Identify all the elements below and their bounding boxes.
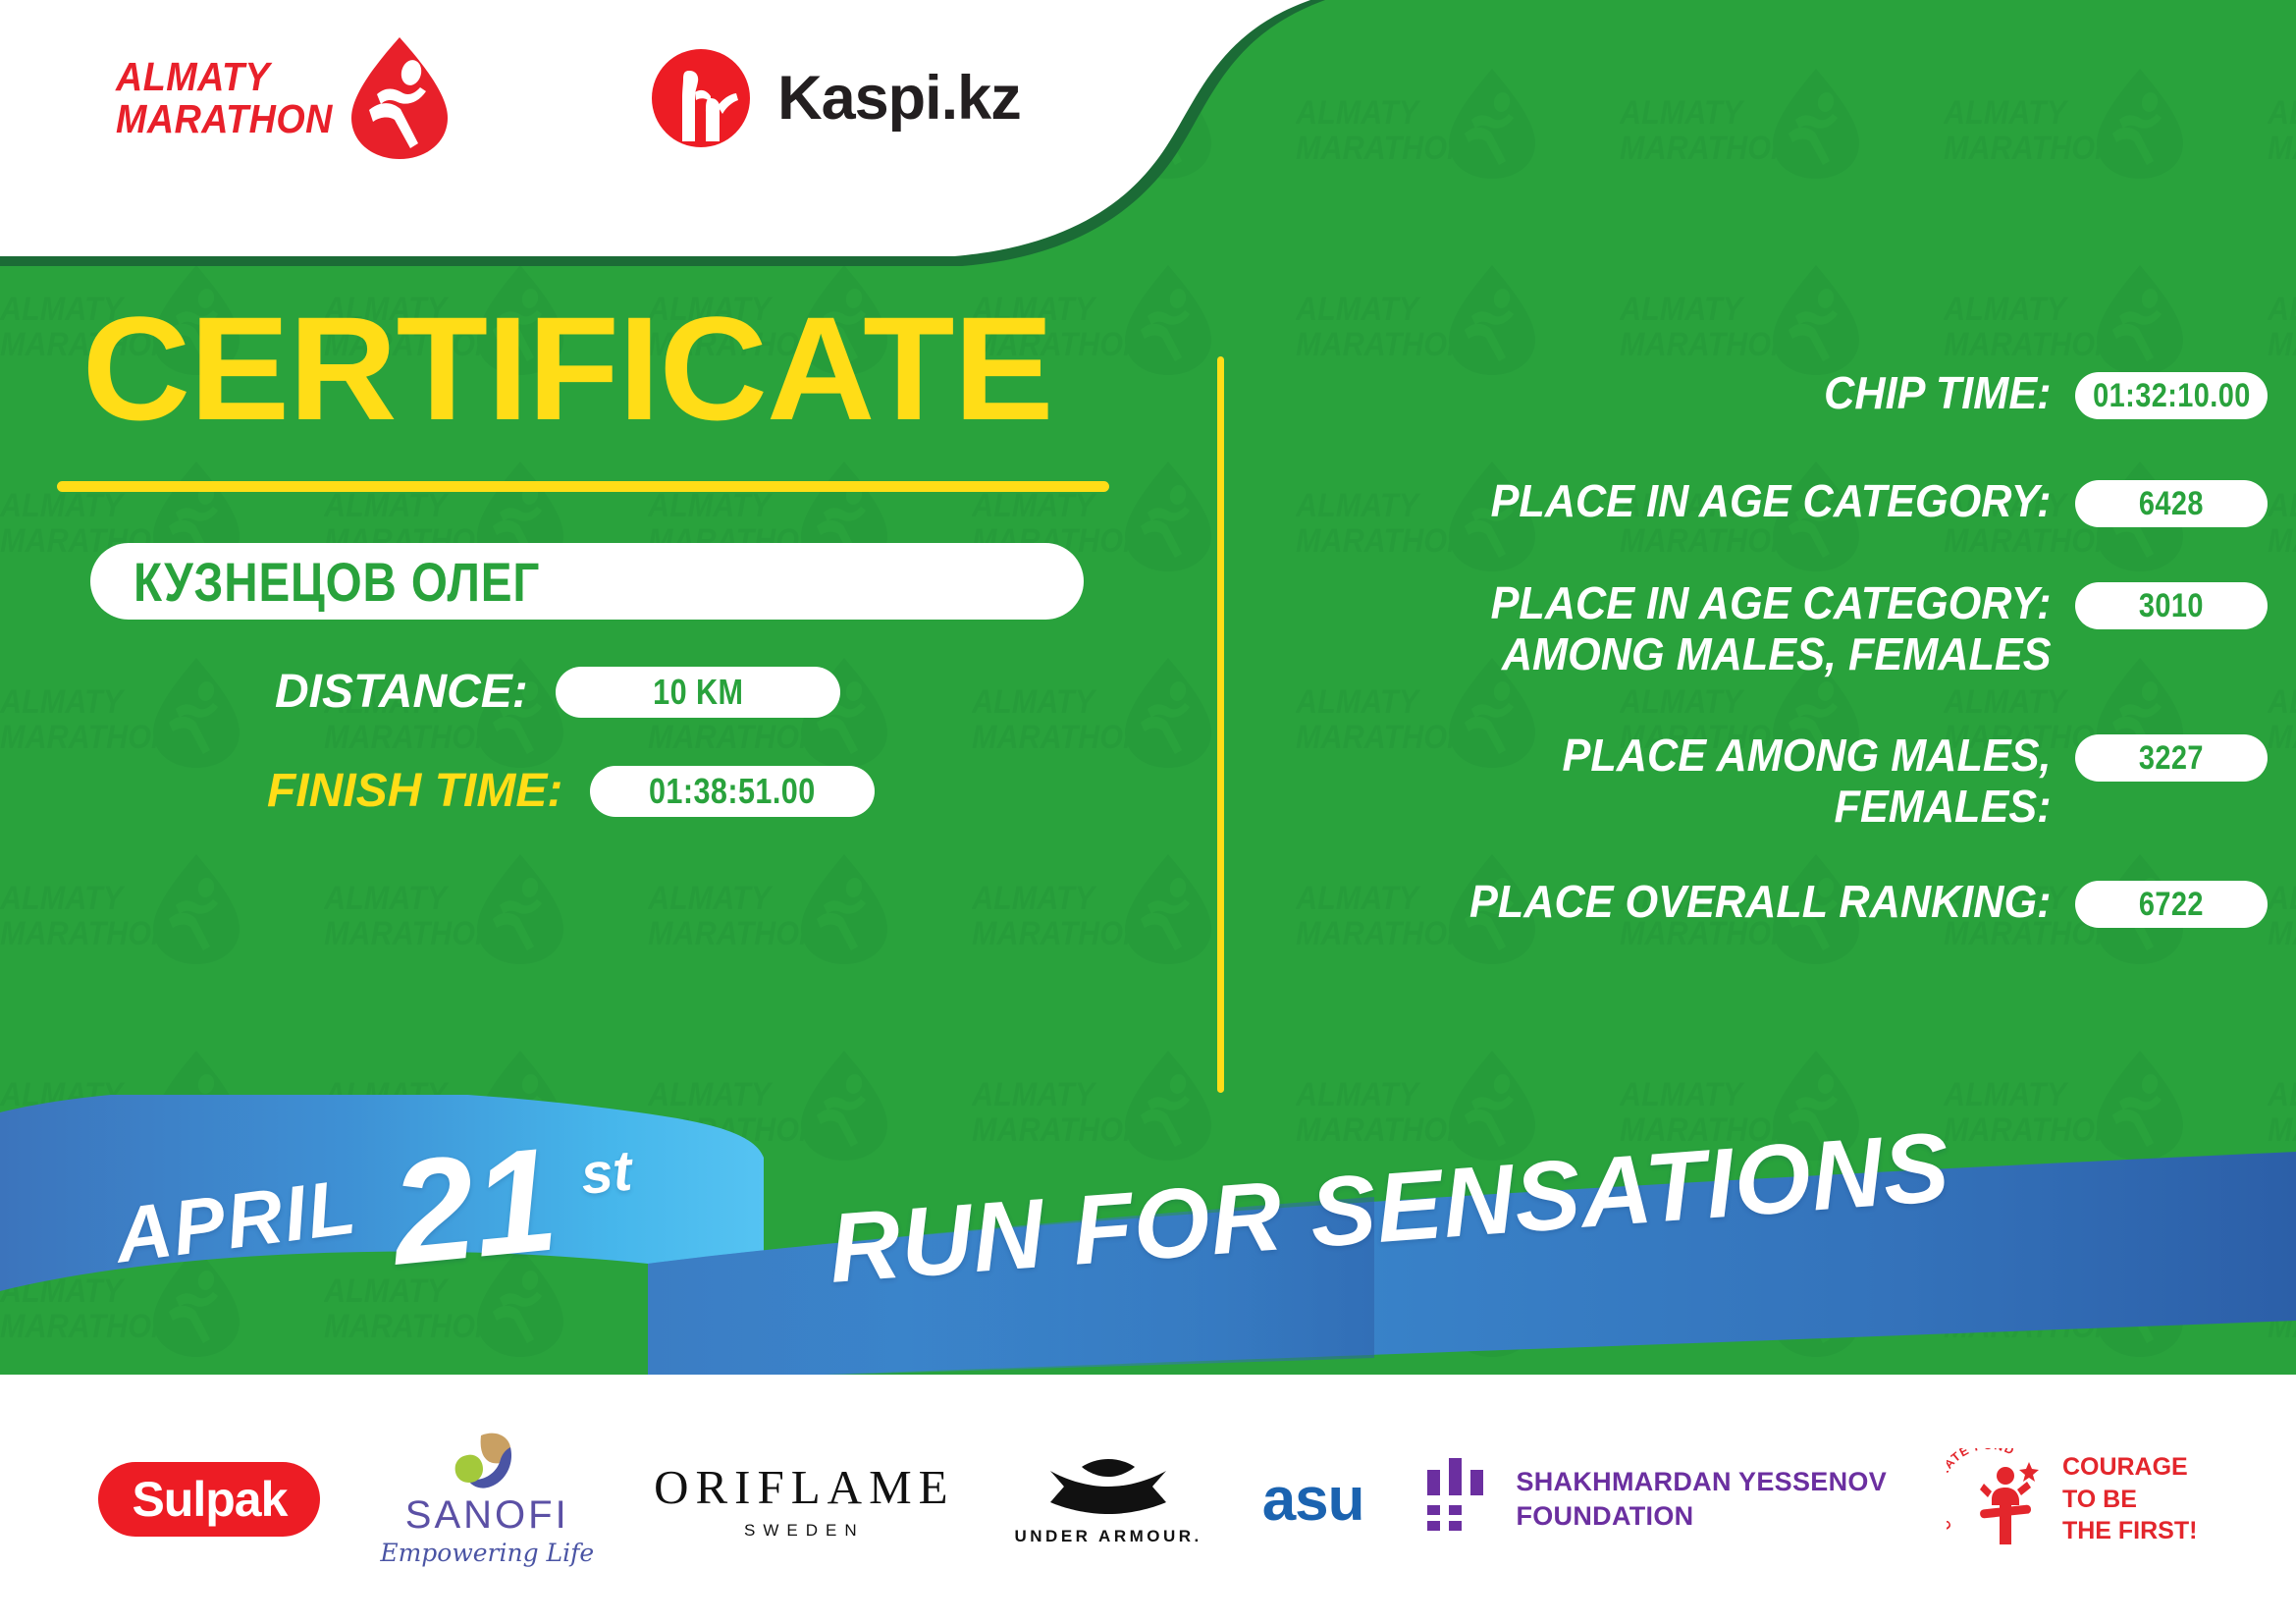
finish-time-value: 01:38:51.00 [649,771,816,812]
yessenov-wordmark: SHAKHMARDAN YESSENOV FOUNDATION [1516,1465,1887,1533]
kaspi-circle-people-icon [650,47,752,149]
sponsor-asu: asu [1262,1465,1364,1535]
result-row-place-among-gender: PLACE AMONG MALES,FEMALES: 3227 [1276,731,2268,832]
yessenov-line2: FOUNDATION [1516,1501,1693,1531]
result-label: CHIP TIME: [1324,368,2075,419]
result-value: 6428 [2139,485,2204,523]
left-column: CERTIFICATE КУЗНЕЦОВ ОЛЕГ DISTANCE: 10 K… [0,295,1207,818]
result-value-pill: 6722 [2075,881,2268,928]
sponsor-sanofi: SANOFI Empowering Life [380,1432,594,1567]
column-divider [1217,356,1224,1093]
asu-wordmark: asu [1262,1465,1364,1535]
result-row-place-age-category-gender: PLACE IN AGE CATEGORY:AMONG MALES, FEMAL… [1276,578,2268,679]
participant-name-field: КУЗНЕЦОВ ОЛЕГ [90,543,1084,620]
under-armour-logo-icon [1046,1453,1170,1520]
sanofi-mark-icon [452,1432,522,1492]
courage-line3: THE FIRST! [2062,1517,2198,1544]
title-underline-rule [57,481,1109,492]
sanofi-tagline: Empowering Life [380,1539,594,1567]
page-title: CERTIFICATE [0,295,1232,442]
result-value: 01:32:10.00 [2093,377,2251,415]
header-logos: ALMATY MARATHON Kaspi.kz [0,0,1276,196]
result-value-pill: 01:32:10.00 [2075,372,2268,419]
kaspi-logo: Kaspi.kz [650,47,1021,149]
result-value-pill: 3010 [2075,582,2268,629]
result-row-place-overall: PLACE OVERALL RANKING: 6722 [1276,877,2268,928]
participant-name-value: КУЗНЕЦОВ ОЛЕГ [133,550,540,614]
kaspi-wordmark: Kaspi.kz [777,63,1021,134]
result-value: 6722 [2139,886,2204,924]
oriflame-wordmark: ORIFLAME [654,1459,954,1515]
sponsor-oriflame: ORIFLAME SWEDEN [654,1459,954,1541]
results-column: CHIP TIME: 01:32:10.00 PLACE IN AGE CATE… [1276,368,2268,969]
distance-value: 10 KM [653,672,743,713]
result-row-chip-time: CHIP TIME: 01:32:10.00 [1276,368,2268,419]
sponsor-yessenov-foundation: SHAKHMARDAN YESSENOV FOUNDATION [1423,1456,1887,1543]
result-label: PLACE OVERALL RANKING: [1324,877,2075,928]
result-value: 3227 [2139,739,2204,778]
courage-wordmark: COURAGE TO BE THE FIRST! [2062,1451,2198,1547]
sponsor-sulpak: Sulpak [98,1462,320,1537]
finish-time-value-pill: 01:38:51.00 [590,766,875,817]
finish-time-label: FINISH TIME: [267,764,562,818]
almaty-marathon-logo: ALMATY MARATHON [116,33,454,163]
yessenov-bars-icon [1423,1456,1490,1543]
almaty-marathon-line1: ALMATY [116,56,333,98]
almaty-marathon-line2: MARATHON [116,98,333,140]
under-armour-wordmark: UNDER ARMOUR. [1015,1527,1202,1546]
result-label: PLACE IN AGE CATEGORY:AMONG MALES, FEMAL… [1324,578,2075,679]
result-value: 3010 [2139,587,2204,625]
result-value-pill: 6428 [2075,480,2268,527]
sponsor-courage-fund: CORPORATE FUND COURAGE TO BE THE FIRST! [1947,1448,2198,1550]
ribbon-day-number: 21 [385,1113,564,1298]
result-label: PLACE IN AGE CATEGORY: [1324,476,2075,527]
result-value-pill: 3227 [2075,734,2268,782]
courage-line1: COURAGE [2062,1453,2188,1481]
courage-line2: TO BE [2062,1486,2137,1513]
sulpak-logo: Sulpak [98,1462,320,1537]
sponsor-strip: Sulpak SANOFI Empowering Life ORIFLAME S… [0,1375,2296,1624]
yessenov-line1: SHAKHMARDAN YESSENOV [1516,1467,1887,1496]
distance-row: DISTANCE: 10 KM [0,665,1207,719]
courage-fund-figure-icon: CORPORATE FUND [1947,1448,2053,1550]
almaty-marathon-drop-runner-icon [346,33,454,163]
sponsor-under-armour: UNDER ARMOUR. [1015,1453,1202,1546]
oriflame-tagline: SWEDEN [744,1521,865,1541]
result-label: PLACE AMONG MALES,FEMALES: [1324,731,2075,832]
almaty-marathon-wordmark: ALMATY MARATHON [116,56,333,140]
finish-time-row: FINISH TIME: 01:38:51.00 [0,764,1207,818]
sanofi-wordmark: SANOFI [405,1493,569,1538]
distance-value-pill: 10 KM [556,667,840,718]
result-row-place-age-category: PLACE IN AGE CATEGORY: 6428 [1276,476,2268,527]
distance-label: DISTANCE: [275,665,528,719]
ribbon-day-ordinal: st [578,1138,634,1208]
